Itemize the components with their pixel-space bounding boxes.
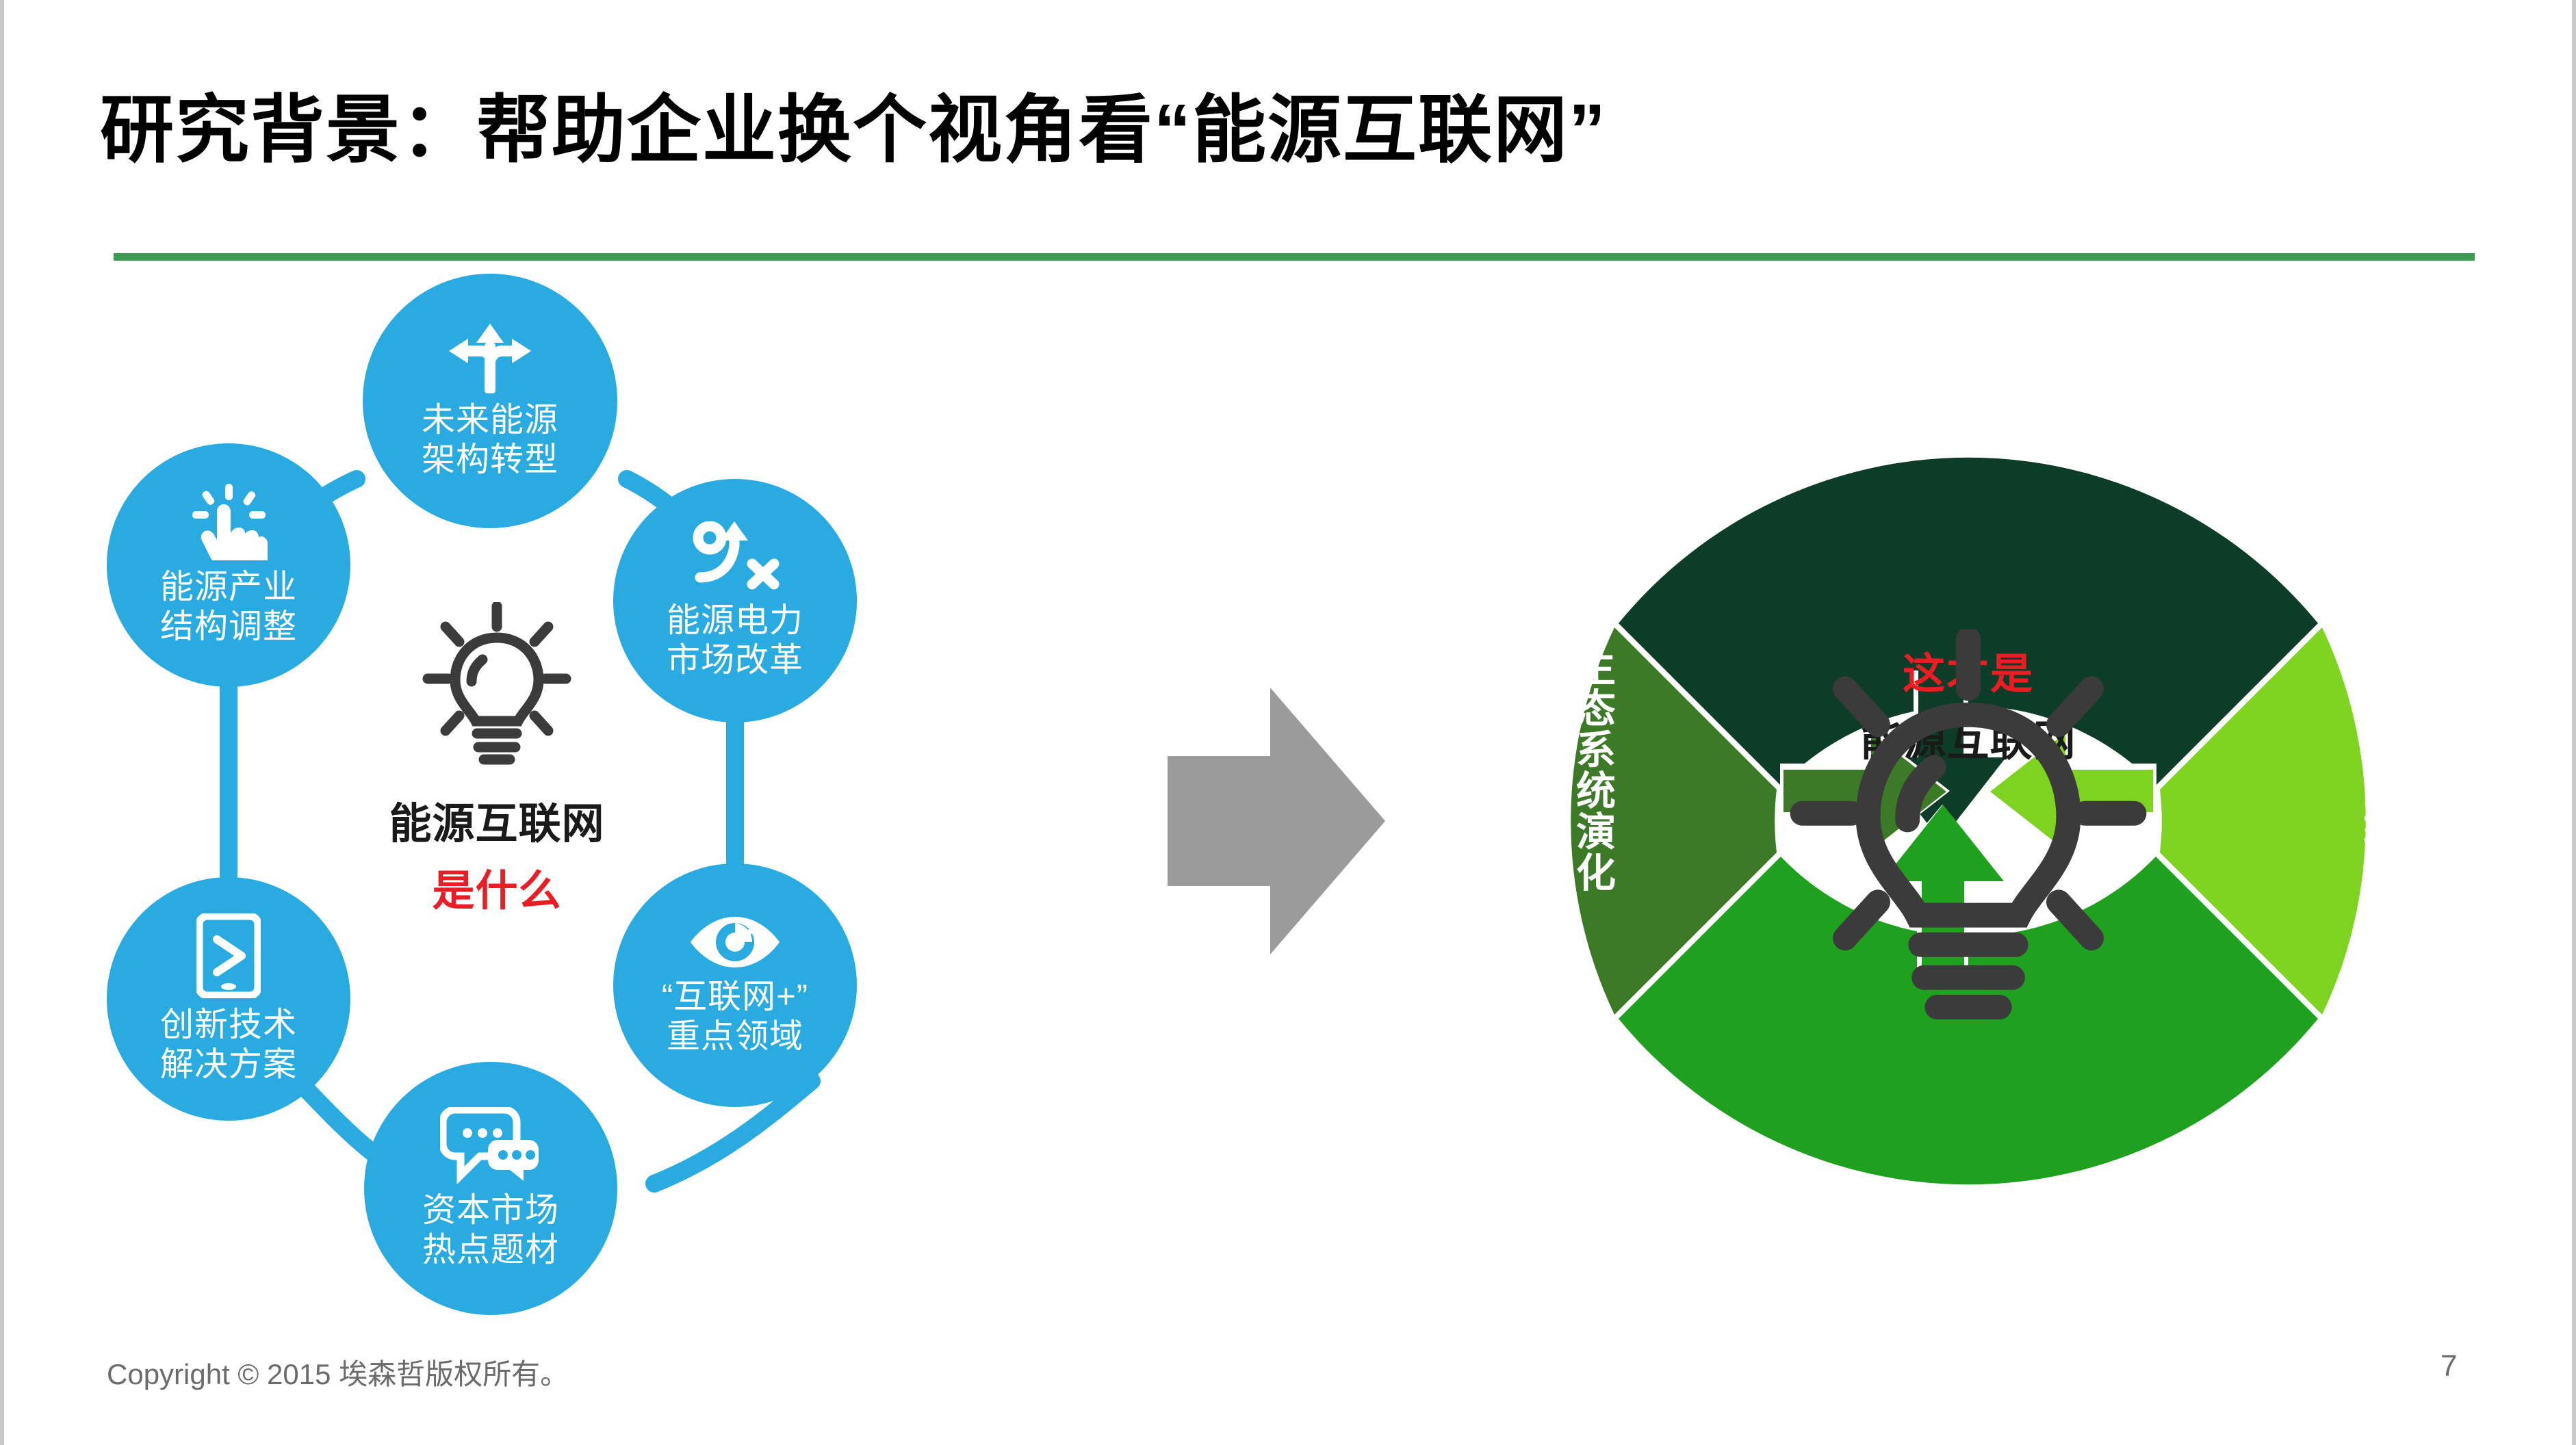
mindmap-node-label: 未来能源 架构转型	[422, 401, 558, 480]
branching-arrows-icon	[445, 322, 535, 397]
wheel-segment-label-bottom: 新增市场规模	[1695, 1197, 2242, 1259]
wheel-segment-label-right: 商业模式转型	[2324, 647, 2399, 893]
mindmap-node-label: 资本市场 热点题材	[422, 1191, 559, 1271]
mindmap-node-power-market-reform[interactable]: 能源电力 市场改革	[613, 479, 857, 722]
mindmap-center-label-main: 能源互联网	[389, 789, 604, 850]
wheel-center-hub: 这才是 能源互联网	[1763, 629, 2174, 1040]
chat-bubbles-icon	[440, 1107, 541, 1187]
mindmap-node-capital-market[interactable]: 资本市场 热点题材	[364, 1062, 617, 1315]
mindmap-node-internet-plus[interactable]: “互联网+” 重点领域	[613, 863, 857, 1107]
mindmap-node-label: 创新技术 解决方案	[160, 1006, 297, 1085]
page-title: 研究背景：帮助企业换个视角看“能源互联网”	[100, 88, 2358, 172]
right-block-arrow-icon	[1168, 684, 1387, 958]
mindmap-node-industry-structure[interactable]: 能源产业 结构调整	[107, 443, 350, 687]
mindmap-node-label: 能源电力 市场改革	[667, 601, 803, 681]
page-number: 7	[2440, 1349, 2457, 1383]
wheel-segment-label-left: 生态系统演化	[1537, 647, 1612, 893]
title-divider	[114, 253, 2475, 261]
mindmap-node-innovative-tech[interactable]: 创新技术 解决方案	[107, 877, 350, 1121]
mindmap-node-label: “互联网+” 重点领域	[662, 978, 808, 1057]
tap-hand-icon	[188, 484, 269, 564]
mindmap-center-hub: 能源互联网 是什么	[360, 602, 634, 930]
tablet-device-icon	[196, 913, 261, 1002]
lightbulb-icon	[418, 602, 576, 777]
footer-copyright: Copyright © 2015 埃森哲版权所有。	[107, 1351, 569, 1393]
mindmap-node-future-energy[interactable]: 未来能源 架构转型	[363, 274, 617, 528]
slide-canvas: 研究背景：帮助企业换个视角看“能源互联网”	[0, 0, 2576, 1445]
strategy-icon	[689, 521, 781, 597]
energy-internet-value-wheel: 价值实现形式 商业模式转型 新增市场规模 生态系统演化	[1434, 287, 2502, 1355]
eye-icon	[688, 914, 782, 974]
wheel-segment-label-top: 价值实现形式	[1695, 368, 2242, 430]
mindmap-node-label: 能源产业 结构调整	[160, 568, 297, 647]
energy-internet-mindmap: 未来能源 架构转型 能源产业 结构调整	[86, 274, 1140, 1355]
mindmap-center-label-sub: 是什么	[432, 856, 561, 917]
